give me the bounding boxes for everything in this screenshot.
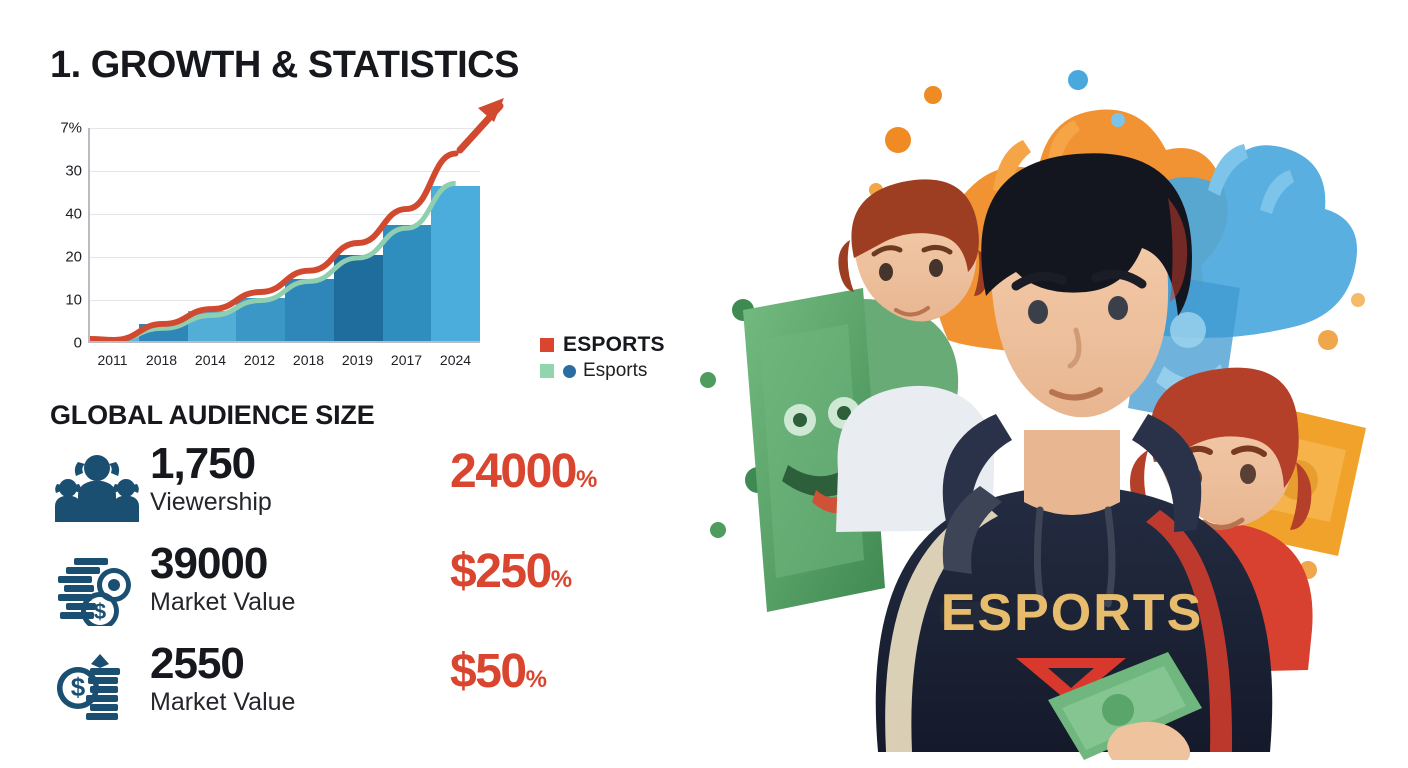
stat-percent-suffix: % (551, 566, 571, 593)
splash-dot (1068, 70, 1088, 90)
x-axis-tick: 2024 (431, 352, 480, 368)
legend-dot-blue-icon (563, 365, 576, 378)
stats-list: 1,750 Viewership 24000% (50, 440, 650, 740)
x-axis-tick: 2014 (186, 352, 235, 368)
left-panel: 1. GROWTH & STATISTICS 7% 30 40 20 10 0 (0, 0, 660, 768)
stat-percent-value: $50 (450, 645, 526, 698)
splash-dot (710, 522, 726, 538)
chart-legend: ESPORTS Esports (540, 332, 665, 384)
splash-dot (1351, 293, 1365, 307)
stat-value: 1,750 (150, 442, 272, 486)
stat-value: 2550 (150, 642, 295, 686)
neck (1024, 430, 1120, 515)
growth-chart: 7% 30 40 20 10 0 (48, 120, 648, 370)
legend-swatch-red-icon (540, 338, 554, 352)
x-axis-tick: 2018 (137, 352, 186, 368)
audience-people-icon (54, 448, 140, 526)
stat-label: Viewership (150, 488, 272, 517)
y-axis-tick: 40 (65, 206, 82, 223)
stat-percent-suffix: % (576, 466, 596, 493)
stat-row: $ 2550 Market Value $50% (50, 640, 650, 740)
stat-percent: $50% (450, 644, 545, 699)
esports-trend-line (90, 154, 456, 340)
money-coins-icon: $ (54, 548, 140, 626)
x-axis-tick: 2019 (333, 352, 382, 368)
x-axis-ticks: 2011 2018 2014 2012 2018 2019 2017 2024 (88, 352, 480, 368)
esports-illustration: ESPORTS (648, 10, 1408, 760)
stat-text-group: 39000 Market Value (150, 542, 295, 617)
stat-row: $ 39000 Market Value $250% (50, 540, 650, 640)
x-axis-tick: 2012 (235, 352, 284, 368)
stat-percent: 24000% (450, 444, 596, 499)
svg-text:$: $ (94, 599, 106, 624)
stat-label: Market Value (150, 688, 295, 717)
y-axis-tick: 0 (74, 335, 82, 352)
y-axis-tick: 7% (60, 120, 82, 137)
chart-plot-area: 7% 30 40 20 10 0 (88, 128, 480, 343)
y-axis-tick: 10 (65, 292, 82, 309)
eye (1108, 296, 1128, 320)
hoodie-text: ESPORTS (941, 584, 1204, 642)
audience-section-title: GLOBAL AUDIENCE SIZE (50, 400, 375, 431)
esports-illustration-svg: ESPORTS (648, 10, 1408, 760)
splash-dot (1111, 113, 1125, 127)
svg-text:$: $ (71, 672, 86, 702)
y-axis-tick: 20 (65, 249, 82, 266)
trend-arrow-icon (442, 92, 512, 162)
legend-label: Esports (583, 360, 647, 382)
stat-percent-value: 24000 (450, 445, 576, 498)
splash-dot (885, 127, 911, 153)
legend-swatch-green-icon (540, 364, 554, 378)
splash-dot (700, 372, 716, 388)
stat-percent-value: $250 (450, 545, 551, 598)
stat-text-group: 1,750 Viewership (150, 442, 272, 517)
stat-percent: $250% (450, 544, 571, 599)
stat-percent-suffix: % (526, 666, 546, 693)
stat-row: 1,750 Viewership 24000% (50, 440, 650, 540)
splash-dot (924, 86, 942, 104)
legend-item-esports-secondary: Esports (540, 358, 665, 384)
x-axis-tick: 2011 (88, 352, 137, 368)
stat-value: 39000 (150, 542, 295, 586)
x-axis-tick: 2018 (284, 352, 333, 368)
page-title: 1. GROWTH & STATISTICS (50, 44, 519, 87)
eye (1028, 300, 1048, 324)
x-axis-tick: 2017 (382, 352, 431, 368)
dollar-coin-icon: $ (54, 648, 140, 726)
infographic-page: 1. GROWTH & STATISTICS 7% 30 40 20 10 0 (0, 0, 1408, 768)
splash-dot (1318, 330, 1338, 350)
chart-series-overlay (90, 128, 480, 341)
legend-item-esports-primary: ESPORTS (540, 332, 665, 358)
stat-text-group: 2550 Market Value (150, 642, 295, 717)
y-axis-tick: 30 (65, 163, 82, 180)
stat-label: Market Value (150, 588, 295, 617)
